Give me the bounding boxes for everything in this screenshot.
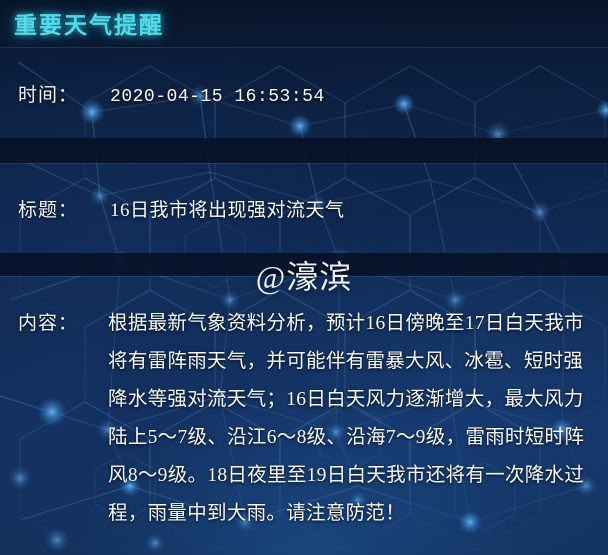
content-line: 陆上5～7级、沿江6～8级、沿海7～9级，雷雨时短时阵 <box>108 419 608 457</box>
weather-alert-card: 重要天气提醒 时间： 2020-04-15 16:53:54 标题： 16日我市… <box>0 0 608 555</box>
subject-row: 标题： 16日我市将出现强对流天气 <box>0 195 608 222</box>
subject-label: 标题： <box>18 195 78 222</box>
page-title: 重要天气提醒 <box>14 6 164 40</box>
content-label: 内容： <box>18 305 78 533</box>
divider-band-upper <box>0 138 608 163</box>
content-line: 根据最新气象资料分析，预计16日傍晚至17日白天我市 <box>108 305 608 343</box>
watermark: @濠滨 <box>0 252 608 298</box>
time-label: 时间： <box>18 80 78 107</box>
time-row: 时间： 2020-04-15 16:53:54 <box>0 80 608 107</box>
content-block: 内容： 根据最新气象资料分析，预计16日傍晚至17日白天我市 将有雷阵雨天气，并… <box>0 305 608 533</box>
subject-value: 16日我市将出现强对流天气 <box>110 195 345 222</box>
content-line: 降水等强对流天气；16日白天风力逐渐增大，最大风力 <box>108 381 608 419</box>
content-lines: 根据最新气象资料分析，预计16日傍晚至17日白天我市 将有雷阵雨天气，并可能伴有… <box>108 305 608 533</box>
content-line: 程，雨量中到大雨。请注意防范！ <box>108 495 608 533</box>
time-value: 2020-04-15 16:53:54 <box>110 87 325 107</box>
content-line: 风8～9级。18日夜里至19日白天我市还将有一次降水过 <box>108 457 608 495</box>
content-line: 将有雷阵雨天气，并可能伴有雷暴大风、冰雹、短时强 <box>108 343 608 381</box>
